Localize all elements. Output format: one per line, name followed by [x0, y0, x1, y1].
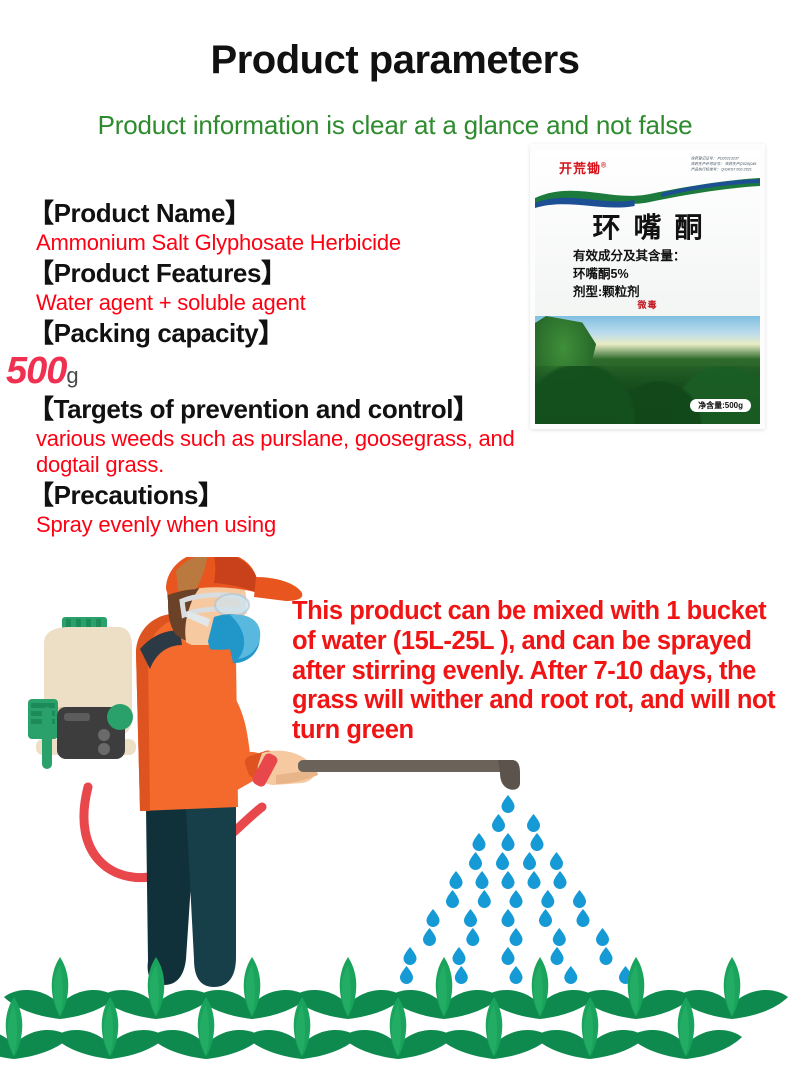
- package-forest-photo: 净含量:500g: [535, 316, 760, 424]
- spec-heading-product-name: 【Product Name】: [28, 198, 558, 230]
- package-ingredient-block: 有效成分及其含量： 环嘴酮5% 剂型:颗粒剂: [573, 248, 686, 301]
- spec-item-product-features: 【Product Features】 Water agent + soluble…: [28, 258, 558, 316]
- water-droplet: [473, 833, 486, 851]
- water-droplet: [450, 871, 463, 889]
- package-registration-block: 农药登记证号： PD20213237 农药生产许可证号： 农药生产(2020)0…: [690, 156, 756, 173]
- page-subtitle: Product information is clear at a glance…: [0, 110, 790, 141]
- package-front-face: 开荒锄® 农药登记证号： PD20213237 农药生产许可证号： 农药生产(2…: [535, 150, 760, 424]
- packing-capacity-number: 500: [6, 350, 66, 392]
- package-info-line-2: 环嘴酮5%: [573, 266, 686, 284]
- water-droplet: [528, 871, 541, 889]
- packing-capacity-unit: g: [66, 363, 78, 388]
- water-droplet: [469, 852, 482, 870]
- water-droplet: [510, 890, 523, 908]
- water-droplet: [446, 890, 459, 908]
- water-droplet: [423, 928, 436, 946]
- water-droplet: [464, 909, 477, 927]
- water-droplet: [510, 928, 523, 946]
- spec-item-packing-capacity: 【Packing capacity】 500g: [28, 318, 558, 392]
- plant-cluster: [4, 957, 116, 1019]
- plant-cluster: [484, 957, 596, 1019]
- package-toxicity-label: 微毒: [535, 298, 760, 311]
- water-droplet: [596, 928, 609, 946]
- water-droplet: [476, 871, 489, 889]
- package-product-name: 环嘴酮: [535, 206, 760, 246]
- spray-droplets: [400, 795, 632, 984]
- spec-heading-product-features: 【Product Features】: [28, 258, 558, 290]
- water-droplet: [496, 852, 509, 870]
- spec-value-packing-capacity: 500g: [6, 352, 558, 392]
- spec-heading-packing-capacity: 【Packing capacity】: [28, 318, 558, 350]
- water-droplet: [554, 871, 567, 889]
- page-title: Product parameters: [0, 38, 790, 83]
- water-droplet: [502, 871, 515, 889]
- product-package-photo: 开荒锄® 农药登记证号： PD20213237 农药生产许可证号： 农药生产(2…: [530, 144, 765, 429]
- water-droplet: [531, 833, 544, 851]
- water-droplet: [502, 833, 515, 851]
- package-brand-text: 开荒锄: [559, 161, 601, 176]
- spec-value-precautions: Spray evenly when using: [28, 512, 558, 538]
- package-registration-line-3: 产品执行标准号： Q/GRST 002-2021: [690, 167, 756, 173]
- package-foliage-graphic: [535, 366, 760, 424]
- water-droplet: [502, 795, 515, 813]
- water-droplet: [573, 890, 586, 908]
- water-droplet: [427, 909, 440, 927]
- package-info-line-1: 有效成分及其含量：: [573, 248, 686, 266]
- package-net-weight-badge: 净含量:500g: [690, 399, 751, 412]
- water-droplet: [541, 890, 554, 908]
- plant-cluster: [100, 957, 212, 1019]
- water-droplet: [550, 852, 563, 870]
- plant-cluster: [676, 957, 788, 1019]
- spec-item-targets: 【Targets of prevention and control】 vari…: [28, 394, 558, 479]
- package-swoosh-graphic: [535, 178, 760, 208]
- plant-cluster: [196, 957, 308, 1019]
- spec-value-targets: various weeds such as purslane, goosegra…: [28, 426, 558, 479]
- spec-heading-precautions: 【Precautions】: [28, 480, 558, 512]
- water-droplet: [502, 909, 515, 927]
- water-droplet: [539, 909, 552, 927]
- plant-row: [0, 957, 790, 1077]
- water-droplet: [523, 852, 536, 870]
- water-droplet: [577, 909, 590, 927]
- spec-value-product-features: Water agent + soluble agent: [28, 290, 558, 316]
- package-brand-logo: 开荒锄®: [559, 158, 607, 177]
- sprayer-pump-motor: [28, 699, 133, 769]
- plant-cluster: [292, 957, 404, 1019]
- spec-item-product-name: 【Product Name】 Ammonium Salt Glyphosate …: [28, 198, 558, 256]
- spec-item-precautions: 【Precautions】 Spray evenly when using: [28, 480, 558, 538]
- water-droplet: [478, 890, 491, 908]
- registered-mark-icon: ®: [601, 163, 607, 170]
- water-droplet: [527, 814, 540, 832]
- product-spec-list: 【Product Name】 Ammonium Salt Glyphosate …: [28, 198, 558, 540]
- water-droplet: [492, 814, 505, 832]
- spec-heading-targets: 【Targets of prevention and control】: [28, 394, 558, 426]
- spec-value-product-name: Ammonium Salt Glyphosate Herbicide: [28, 230, 558, 256]
- plant-cluster: [388, 957, 500, 1019]
- plant-cluster: [580, 957, 692, 1019]
- water-droplet: [553, 928, 566, 946]
- water-droplet: [466, 928, 479, 946]
